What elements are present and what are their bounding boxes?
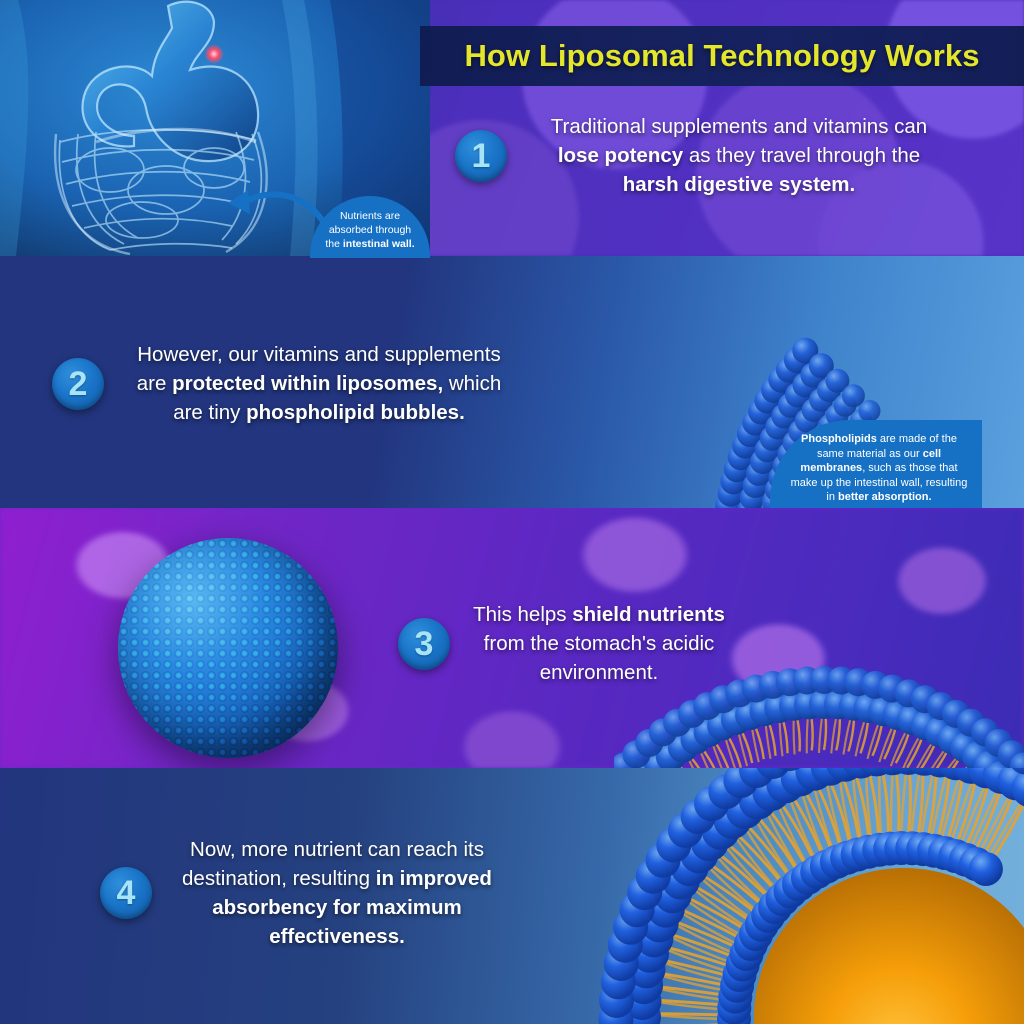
liposome-cross-section-illustration [504,768,1024,1024]
liposome-sphere-illustration [118,538,338,758]
step-1-text: Traditional supplements and vitamins can… [529,112,949,199]
step-3-text: This helps shield nutrients from the sto… [468,600,730,687]
step-3: 3 This helps shield nutrients from the s… [398,600,738,687]
step-2-text: However, our vitamins and supplements ar… [124,340,514,427]
step-4-text: Now, more nutrient can reach its destina… [172,835,502,951]
step-2: 2 However, our vitamins and supplements … [52,340,522,427]
step-1-badge: 1 [455,130,507,182]
step-2-badge: 2 [52,358,104,410]
step-4-badge: 4 [100,867,152,919]
step-4: 4 Now, more nutrient can reach its desti… [100,835,520,951]
step-1: 1 Traditional supplements and vitamins c… [455,112,985,199]
step-3-badge: 3 [398,618,450,670]
page-title: How Liposomal Technology Works [464,38,979,74]
infographic-root: How Liposomal Technology Works 1 Traditi… [0,0,1024,1024]
title-banner: How Liposomal Technology Works [420,26,1024,86]
callout-phospholipids: Phospholipids are made of the same mater… [770,420,982,508]
